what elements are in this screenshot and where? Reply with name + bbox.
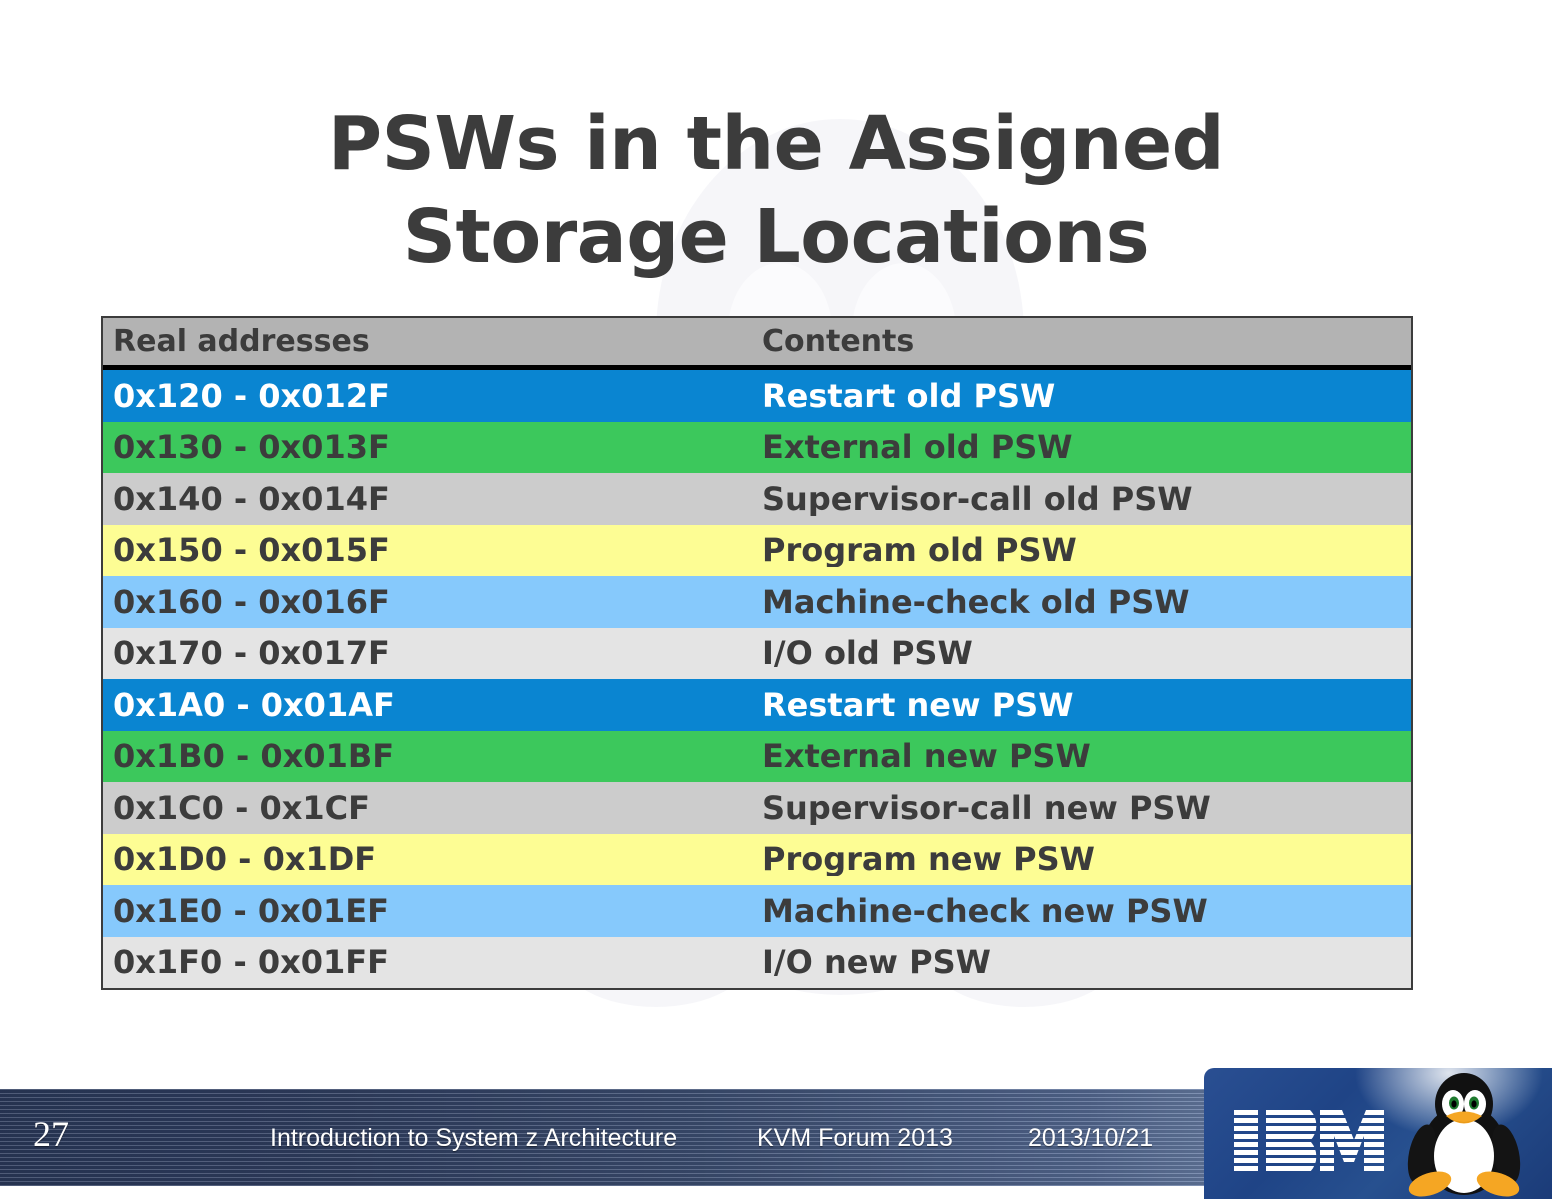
table-row: 0x150 - 0x015FProgram old PSW — [103, 525, 1411, 577]
cell-contents: Machine-check new PSW — [761, 894, 1411, 928]
cell-contents: I/O new PSW — [761, 945, 1411, 979]
table-row: 0x1B0 - 0x01BFExternal new PSW — [103, 731, 1411, 783]
cell-real-address: 0x1C0 - 0x1CF — [103, 791, 761, 825]
column-header-real-addresses: Real addresses — [103, 325, 761, 359]
table-row: 0x130 - 0x013FExternal old PSW — [103, 422, 1411, 474]
cell-contents: External new PSW — [761, 739, 1411, 773]
table-row: 0x140 - 0x014FSupervisor-call old PSW — [103, 473, 1411, 525]
cell-contents: Restart old PSW — [761, 379, 1411, 413]
table-row: 0x1D0 - 0x1DFProgram new PSW — [103, 834, 1411, 886]
ibm-linux-brand-badge — [1204, 1068, 1552, 1199]
cell-contents: Machine-check old PSW — [761, 585, 1411, 619]
cell-contents: External old PSW — [761, 430, 1411, 464]
cell-real-address: 0x170 - 0x017F — [103, 636, 761, 670]
psw-table: Real addresses Contents 0x120 - 0x012FRe… — [101, 316, 1413, 990]
cell-real-address: 0x120 - 0x012F — [103, 379, 761, 413]
table-row: 0x1A0 - 0x01AFRestart new PSW — [103, 679, 1411, 731]
cell-real-address: 0x1E0 - 0x01EF — [103, 894, 761, 928]
cell-contents: Restart new PSW — [761, 688, 1411, 722]
cell-real-address: 0x1D0 - 0x1DF — [103, 842, 761, 876]
cell-real-address: 0x140 - 0x014F — [103, 482, 761, 516]
ibm-logo-icon — [1234, 1110, 1384, 1172]
table-row: 0x1C0 - 0x1CFSupervisor-call new PSW — [103, 782, 1411, 834]
cell-contents: I/O old PSW — [761, 636, 1411, 670]
footer-date: 2013/10/21 — [1028, 1124, 1153, 1152]
slide-title: PSWs in the Assigned Storage Locations — [76, 98, 1476, 284]
table-row: 0x160 - 0x016FMachine-check old PSW — [103, 576, 1411, 628]
cell-contents: Supervisor-call old PSW — [761, 482, 1411, 516]
cell-real-address: 0x1B0 - 0x01BF — [103, 739, 761, 773]
slide-title-line-1: PSWs in the Assigned — [76, 98, 1476, 191]
table-row: 0x1E0 - 0x01EFMachine-check new PSW — [103, 885, 1411, 937]
table-row: 0x170 - 0x017FI/O old PSW — [103, 628, 1411, 680]
table-row: 0x1F0 - 0x01FFI/O new PSW — [103, 937, 1411, 989]
cell-contents: Program new PSW — [761, 842, 1411, 876]
cell-real-address: 0x130 - 0x013F — [103, 430, 761, 464]
table-body: 0x120 - 0x012FRestart old PSW0x130 - 0x0… — [103, 370, 1411, 988]
page-number: 27 — [33, 1120, 69, 1148]
table-header-row: Real addresses Contents — [103, 318, 1411, 370]
cell-real-address: 0x160 - 0x016F — [103, 585, 761, 619]
cell-real-address: 0x150 - 0x015F — [103, 533, 761, 567]
cell-contents: Program old PSW — [761, 533, 1411, 567]
table-row: 0x120 - 0x012FRestart old PSW — [103, 370, 1411, 422]
tux-penguin-icon — [1400, 1072, 1528, 1199]
footer-course-name: Introduction to System z Architecture — [270, 1124, 677, 1152]
cell-contents: Supervisor-call new PSW — [761, 791, 1411, 825]
footer-event-name: KVM Forum 2013 — [757, 1124, 953, 1152]
slide-title-line-2: Storage Locations — [76, 191, 1476, 284]
column-header-contents: Contents — [761, 325, 1411, 359]
cell-real-address: 0x1F0 - 0x01FF — [103, 945, 761, 979]
cell-real-address: 0x1A0 - 0x01AF — [103, 688, 761, 722]
